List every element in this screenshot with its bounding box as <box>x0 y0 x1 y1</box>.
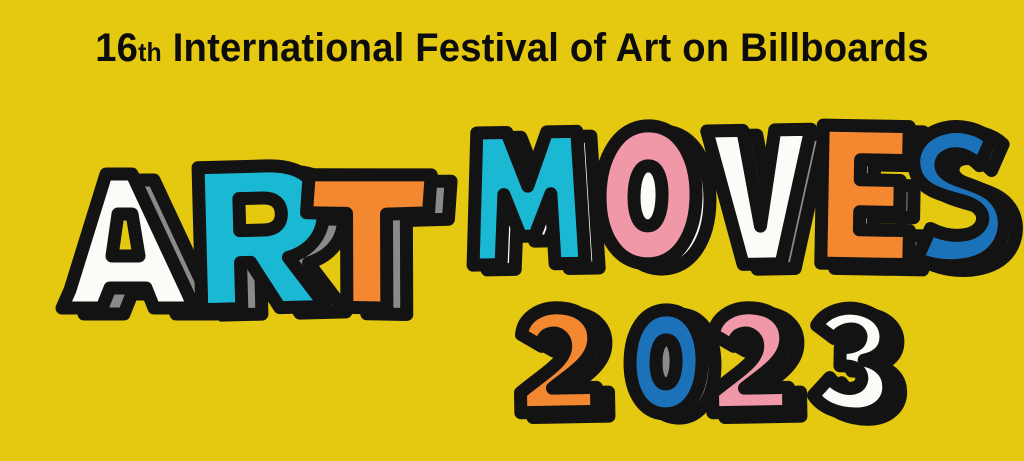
poster-canvas: 16th International Festival of Art on Bi… <box>0 0 1024 461</box>
letter-S <box>899 117 1022 274</box>
festival-name: International Festival of Art on Billboa… <box>162 26 929 70</box>
digit-2-first <box>507 299 614 426</box>
page-title: 16th International Festival of Art on Bi… <box>23 28 1001 68</box>
digit-3 <box>801 299 908 426</box>
letter-T <box>299 167 462 320</box>
ordinal-suffix: th <box>138 37 162 67</box>
digit-2-second <box>699 299 806 426</box>
letter-M <box>467 123 610 280</box>
edition-number: 16 <box>95 26 138 70</box>
